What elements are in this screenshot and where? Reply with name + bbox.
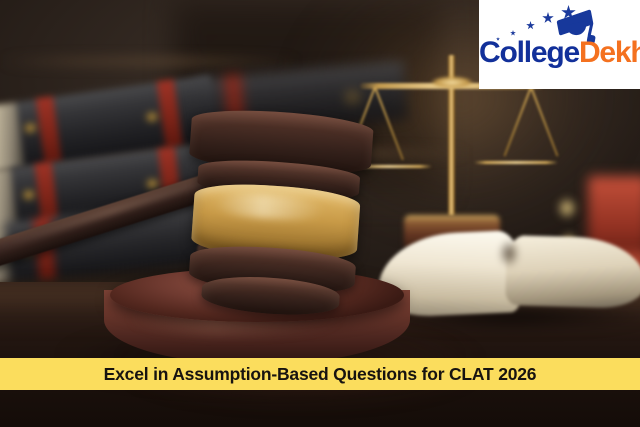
logo-inner: CollegeDekho [479,0,640,89]
logo-wordmark-college: College [479,36,579,69]
scales-string [374,87,404,161]
headline-banner: Excel in Assumption-Based Questions for … [0,358,640,390]
logo-wordmark-dekho: Dekho [579,36,640,69]
collegedekho-logo[interactable]: CollegeDekho [479,0,640,89]
open-book-spine-gutter [498,239,520,311]
gavel-head [180,102,375,306]
scales-pan-right [474,161,558,164]
graduation-cap-icon [555,6,601,40]
open-book [378,225,640,333]
scales-string [504,87,532,157]
headline-text: Excel in Assumption-Based Questions for … [104,364,537,385]
gold-bokeh [556,196,578,220]
scales-center-knob [430,76,474,89]
cap-dome [566,21,588,37]
open-book-right-page [505,235,640,309]
star-icon [542,12,554,24]
logo-wordmark: CollegeDekho [479,38,640,68]
background-shelf-line [0,58,300,65]
promo-banner-image: CollegeDekho Excel in Assumption-Based Q… [0,0,640,427]
star-icon [526,21,535,30]
